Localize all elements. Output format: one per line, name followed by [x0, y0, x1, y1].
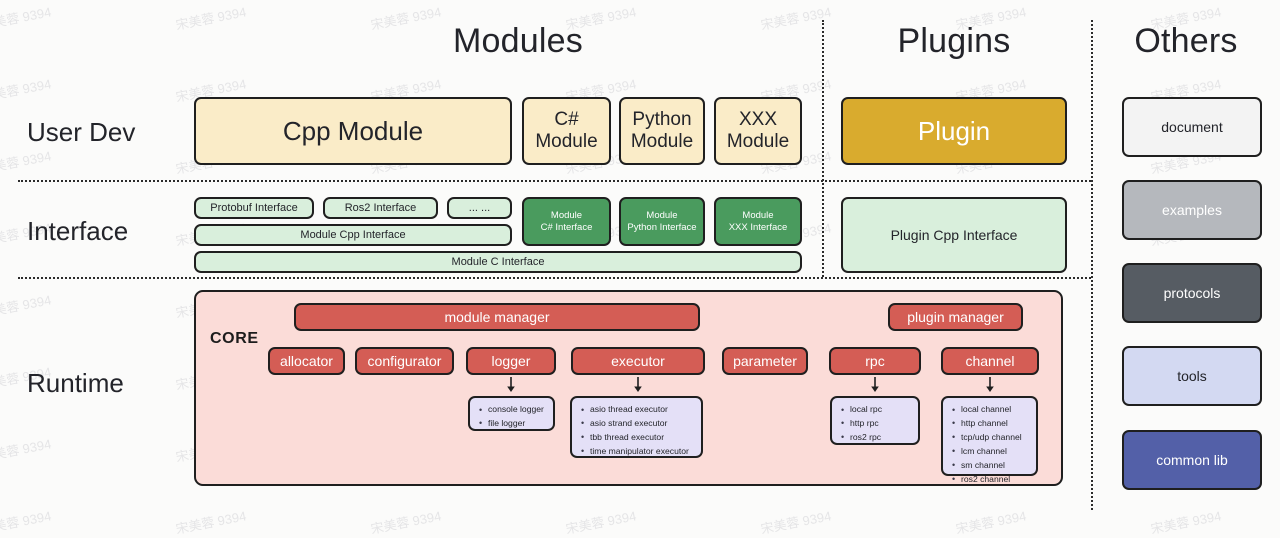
box-parameter[interactable]: parameter — [722, 347, 808, 375]
box-document[interactable]: document — [1122, 97, 1262, 157]
watermark-text: 宋美蓉 9394 — [0, 289, 53, 321]
list-channel-items: local channelhttp channeltcp/udp channel… — [948, 403, 1030, 487]
box-module-cpp-interface[interactable]: Module Cpp Interface — [194, 224, 512, 246]
list-rpc-items: local rpchttp rpcros2 rpc — [837, 403, 912, 445]
box-protobuf-interface[interactable]: Protobuf Interface — [194, 197, 314, 219]
list-item: tcp/udp channel — [961, 431, 1030, 445]
arrow-down-logger-icon — [504, 377, 518, 393]
list-item: asio strand executor — [590, 417, 695, 431]
watermark-text: 宋美蓉 9394 — [954, 505, 1028, 537]
list-logger-children: console loggerfile logger — [468, 396, 555, 431]
box-executor[interactable]: executor — [571, 347, 705, 375]
watermark-text: 宋美蓉 9394 — [759, 505, 833, 537]
watermark-text: 宋美蓉 9394 — [0, 433, 53, 465]
column-header-plugins: Plugins — [824, 22, 1084, 61]
list-rpc-children: local rpchttp rpcros2 rpc — [830, 396, 920, 445]
watermark-text: 宋美蓉 9394 — [564, 505, 638, 537]
box-module-c-interface[interactable]: Module C Interface — [194, 251, 802, 273]
row-label-runtime: Runtime — [27, 368, 124, 399]
box-module-python-interface[interactable]: Module Python Interface — [619, 197, 705, 246]
list-item: file logger — [488, 417, 547, 431]
box-cpp-module[interactable]: Cpp Module — [194, 97, 512, 165]
row-label-interface: Interface — [27, 216, 128, 247]
box-module-manager[interactable]: module manager — [294, 303, 700, 331]
list-item: lcm channel — [961, 445, 1030, 459]
list-item: console logger — [488, 403, 547, 417]
box-plugin[interactable]: Plugin — [841, 97, 1067, 165]
box-protocols[interactable]: protocols — [1122, 263, 1262, 323]
list-executor-items: asio thread executorasio strand executor… — [577, 403, 695, 459]
watermark-text: 宋美蓉 9394 — [174, 505, 248, 537]
box-configurator[interactable]: configurator — [355, 347, 454, 375]
list-item: asio thread executor — [590, 403, 695, 417]
box-more-interface[interactable]: ... ... — [447, 197, 512, 219]
divider-interface-runtime — [18, 277, 1091, 279]
box-common-lib[interactable]: common lib — [1122, 430, 1262, 490]
list-item: ros2 rpc — [850, 431, 912, 445]
list-item: ros2 channel — [961, 473, 1030, 487]
watermark-text: 宋美蓉 9394 — [1149, 505, 1223, 537]
arrow-down-channel-icon — [983, 377, 997, 393]
box-examples[interactable]: examples — [1122, 180, 1262, 240]
list-item: http channel — [961, 417, 1030, 431]
list-item: local rpc — [850, 403, 912, 417]
divider-modules-plugins — [822, 20, 824, 277]
list-item: local channel — [961, 403, 1030, 417]
box-csharp-module[interactable]: C# Module — [522, 97, 611, 165]
box-plugin-manager[interactable]: plugin manager — [888, 303, 1023, 331]
box-module-xxx-interface[interactable]: Module XXX Interface — [714, 197, 802, 246]
box-python-module[interactable]: Python Module — [619, 97, 705, 165]
column-header-others: Others — [1093, 22, 1279, 61]
box-xxx-module[interactable]: XXX Module — [714, 97, 802, 165]
divider-plugins-others — [1091, 20, 1093, 510]
watermark-text: 宋美蓉 9394 — [369, 505, 443, 537]
watermark-text: 宋美蓉 9394 — [174, 1, 248, 33]
core-label: CORE — [210, 330, 259, 348]
box-rpc[interactable]: rpc — [829, 347, 921, 375]
arrow-down-executor-icon — [631, 377, 645, 393]
box-plugin-cpp-interface[interactable]: Plugin Cpp Interface — [841, 197, 1067, 273]
watermark-text: 宋美蓉 9394 — [0, 145, 53, 177]
box-tools[interactable]: tools — [1122, 346, 1262, 406]
list-logger-items: console loggerfile logger — [475, 403, 547, 431]
box-allocator[interactable]: allocator — [268, 347, 345, 375]
box-channel[interactable]: channel — [941, 347, 1039, 375]
column-header-modules: Modules — [353, 22, 683, 61]
divider-userdev-interface — [18, 180, 1091, 182]
list-item: sm channel — [961, 459, 1030, 473]
watermark-text: 宋美蓉 9394 — [0, 505, 53, 537]
list-item: http rpc — [850, 417, 912, 431]
watermark-text: 宋美蓉 9394 — [0, 73, 53, 105]
row-label-user-dev: User Dev — [27, 117, 135, 148]
list-executor-children: asio thread executorasio strand executor… — [570, 396, 703, 458]
list-channel-children: local channelhttp channeltcp/udp channel… — [941, 396, 1038, 476]
box-module-csharp-interface[interactable]: Module C# Interface — [522, 197, 611, 246]
architecture-diagram: 宋美蓉 9394宋美蓉 9394宋美蓉 9394宋美蓉 9394宋美蓉 9394… — [0, 0, 1280, 519]
watermark-text: 宋美蓉 9394 — [0, 1, 53, 33]
arrow-down-rpc-icon — [868, 377, 882, 393]
box-ros2-interface[interactable]: Ros2 Interface — [323, 197, 438, 219]
list-item: tbb thread executor — [590, 431, 695, 445]
box-logger[interactable]: logger — [466, 347, 556, 375]
list-item: time manipulator executor — [590, 445, 695, 459]
